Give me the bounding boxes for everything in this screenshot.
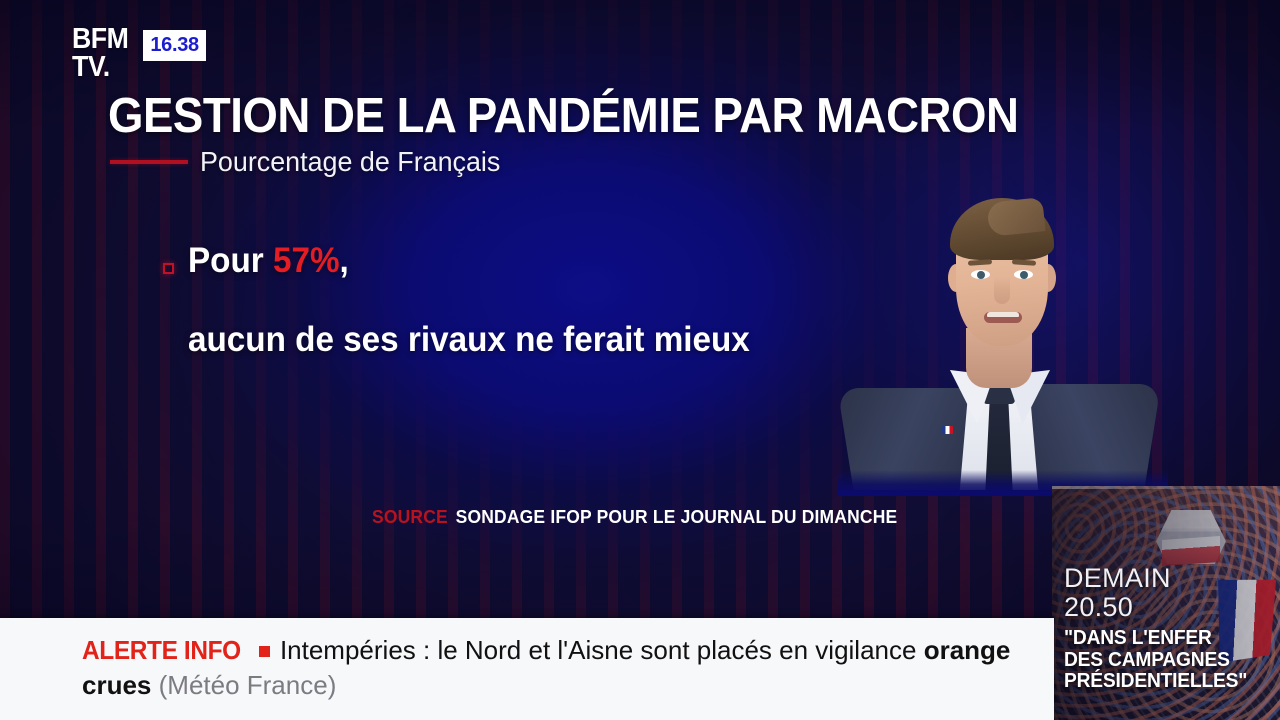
red-dash-accent xyxy=(110,160,188,164)
promo-title-line-1: "DANS L'ENFER xyxy=(1064,628,1264,650)
promo-day: DEMAIN xyxy=(1064,564,1171,593)
promo-time: 20.50 xyxy=(1064,593,1171,622)
promo-title-line-3: PRÉSIDENTIELLES" xyxy=(1064,671,1264,693)
promo-schedule: DEMAIN 20.50 xyxy=(1064,564,1171,621)
alert-content: ALERTE INFOIntempéries : le Nord et l'Ai… xyxy=(82,633,1032,703)
alert-tag: ALERTE INFO xyxy=(82,633,241,668)
pupil-left xyxy=(977,271,985,279)
bullet-square-icon xyxy=(163,263,174,274)
pupil-right xyxy=(1020,271,1028,279)
source-label: SOURCE xyxy=(372,507,448,528)
channel-logo-group: BFM TV. 16.38 xyxy=(72,26,206,82)
broadcast-screen: BFM TV. 16.38 GESTION DE LA PANDÉMIE PAR… xyxy=(0,0,1280,720)
promo-top-edge xyxy=(1052,486,1280,489)
teeth xyxy=(987,312,1019,317)
tricolor-lapel-pin-icon xyxy=(942,426,953,434)
clock-badge: 16.38 xyxy=(143,30,206,61)
logo-line-bfm: BFM xyxy=(72,26,128,54)
stat-prefix: Pour xyxy=(188,241,273,280)
promo-title: "DANS L'ENFER DES CAMPAGNES PRÉSIDENTIEL… xyxy=(1064,628,1264,693)
stat-suffix: , xyxy=(340,241,349,280)
hair-part xyxy=(986,197,1045,237)
promo-title-line-2: DES CAMPAGNES xyxy=(1064,650,1264,672)
stat-line-secondary: aucun de ses rivaux ne ferait mieux xyxy=(188,322,750,357)
stat-value: 57% xyxy=(273,241,340,280)
bfmtv-logo: BFM TV. xyxy=(72,26,128,82)
alert-square-icon xyxy=(259,646,270,657)
promo-box[interactable]: DEMAIN 20.50 "DANS L'ENFER DES CAMPAGNES… xyxy=(1052,486,1280,720)
page-subtitle: Pourcentage de Français xyxy=(200,148,500,176)
subtitle-row: Pourcentage de Français xyxy=(110,148,513,176)
alert-banner: ALERTE INFOIntempéries : le Nord et l'Ai… xyxy=(0,618,1054,720)
stat-line-primary: Pour 57%, xyxy=(188,243,349,278)
nose xyxy=(994,276,1010,304)
page-title: GESTION DE LA PANDÉMIE PAR MACRON xyxy=(108,92,1018,141)
alert-source: (Météo France) xyxy=(159,670,337,700)
logo-line-tv: TV. xyxy=(72,54,128,82)
alert-text-primary: Intempéries : le Nord et l'Aisne sont pl… xyxy=(280,635,917,665)
macron-portrait xyxy=(838,178,1158,490)
source-row: SOURCE SONDAGE IFOP POUR LE JOURNAL DU D… xyxy=(372,507,897,528)
source-text: SONDAGE IFOP POUR LE JOURNAL DU DIMANCHE xyxy=(456,507,898,528)
